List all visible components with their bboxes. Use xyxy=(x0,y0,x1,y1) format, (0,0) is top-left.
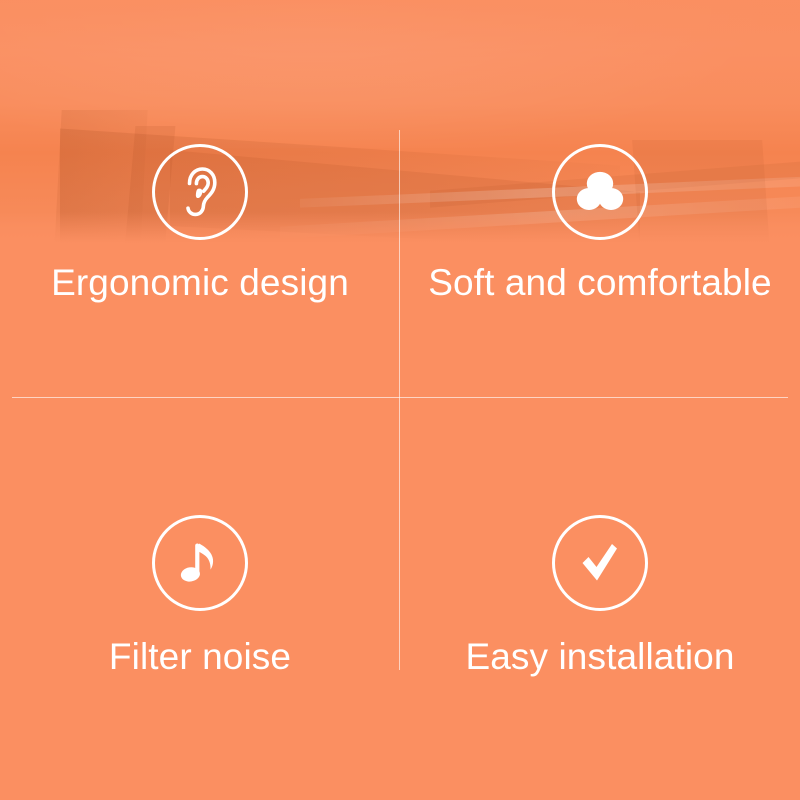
feature-label: Filter noise xyxy=(109,637,291,678)
feature-cell-easy-installation: Easy installation xyxy=(400,398,800,800)
checkmark-icon xyxy=(552,515,648,611)
feature-cell-ergonomic-design: Ergonomic design xyxy=(0,0,400,398)
feature-cell-soft-and-comfortable: Soft and comfortable xyxy=(400,0,800,398)
foam-cluster-icon xyxy=(552,144,648,240)
feature-label: Soft and comfortable xyxy=(428,263,771,304)
feature-label: Easy installation xyxy=(465,637,734,678)
feature-grid: Ergonomic design Soft and comfortable xyxy=(0,0,800,800)
ear-icon xyxy=(152,144,248,240)
feature-cell-filter-noise: Filter noise xyxy=(0,398,400,800)
feature-label: Ergonomic design xyxy=(51,263,349,304)
music-note-icon xyxy=(152,515,248,611)
product-feature-banner: Ergonomic design Soft and comfortable xyxy=(0,0,800,800)
